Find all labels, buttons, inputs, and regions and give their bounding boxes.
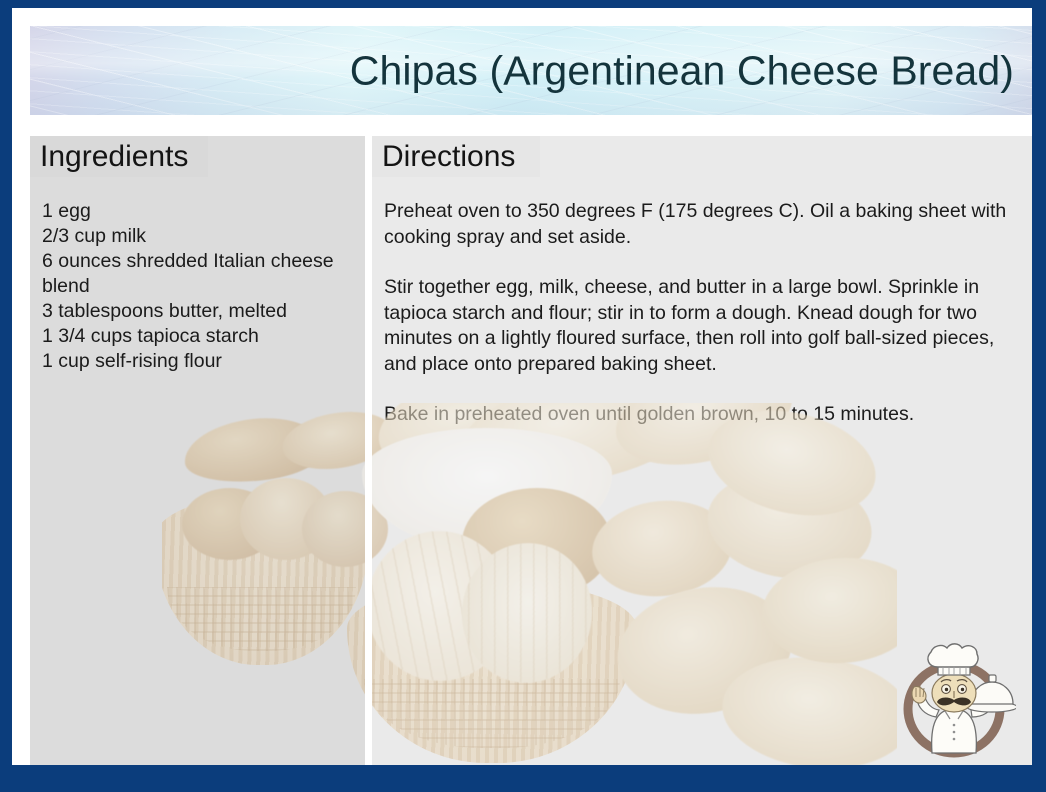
list-item: 3 tablespoons butter, melted <box>42 299 362 324</box>
direction-step: Bake in preheated oven until golden brow… <box>384 402 1024 428</box>
ingredients-heading: Ingredients <box>40 142 188 172</box>
chef-logo-icon <box>892 641 1016 759</box>
page-surface: Chipas (Argentinean Cheese Bread) Ingred… <box>12 8 1034 765</box>
ingredients-heading-tab: Ingredients <box>30 136 208 177</box>
directions-heading-tab: Directions <box>372 136 540 177</box>
page-title: Chipas (Argentinean Cheese Bread) <box>350 48 1014 93</box>
chef-logo <box>892 641 1016 759</box>
list-item: 1 cup self-rising flour <box>42 349 362 374</box>
list-item: 1 3/4 cups tapioca starch <box>42 324 362 349</box>
direction-step: Stir together egg, milk, cheese, and but… <box>384 275 1024 377</box>
panel-seam <box>365 403 372 773</box>
title-banner: Chipas (Argentinean Cheese Bread) <box>30 26 1034 115</box>
list-item: 1 egg <box>42 199 362 224</box>
right-border <box>1032 0 1046 792</box>
list-item: 2/3 cup milk <box>42 224 362 249</box>
directions-body: Preheat oven to 350 degrees F (175 degre… <box>384 199 1024 428</box>
list-item: 6 ounces shredded Italian cheese blend <box>42 249 362 299</box>
ingredients-panel: Ingredients 1 egg 2/3 cup milk 6 ounces … <box>30 136 365 773</box>
directions-heading: Directions <box>382 142 515 172</box>
direction-step: Preheat oven to 350 degrees F (175 degre… <box>384 199 1024 250</box>
recipe-slide: Chipas (Argentinean Cheese Bread) Ingred… <box>0 0 1046 792</box>
ingredients-list: 1 egg 2/3 cup milk 6 ounces shredded Ita… <box>42 199 362 374</box>
bottom-border <box>0 765 1046 792</box>
